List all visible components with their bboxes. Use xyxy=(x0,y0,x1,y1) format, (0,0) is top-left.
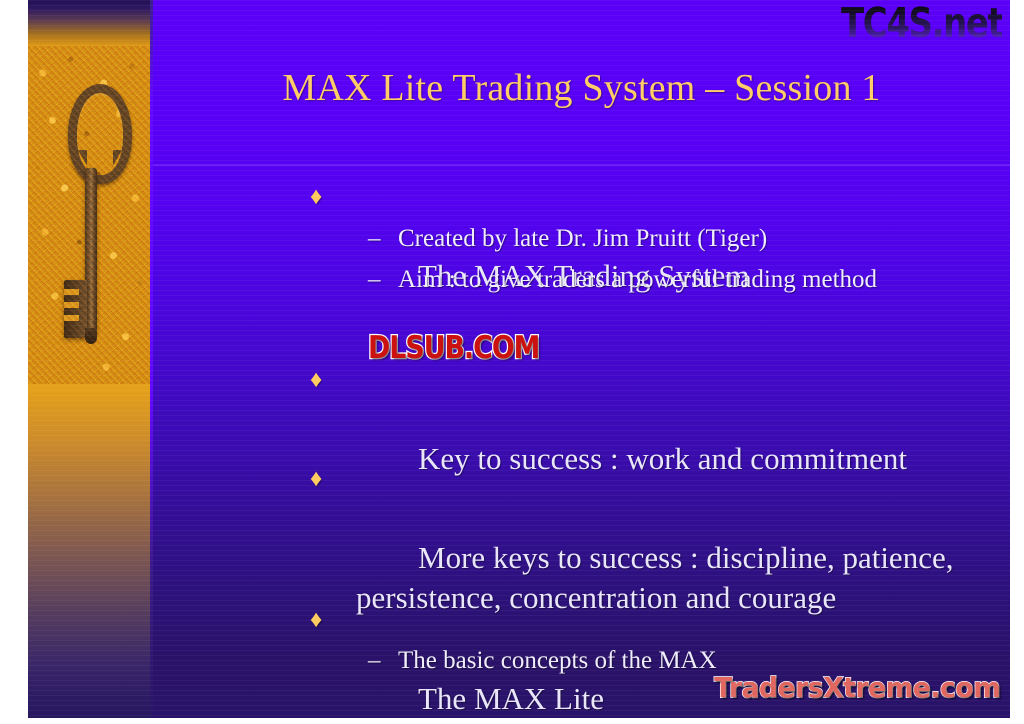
bullet-diamond-icon: ♦ xyxy=(310,459,322,499)
presentation-slide: MAX Lite Trading System – Session 1 ♦ Th… xyxy=(0,0,1024,724)
bullet-level1-text: The MAX Lite xyxy=(418,681,604,716)
bullet-level2: – The basic concepts of the MAX xyxy=(398,644,717,678)
key-notch xyxy=(64,289,79,295)
key-tip-shape xyxy=(85,328,97,344)
key-ward-shape xyxy=(64,280,87,338)
key-bow-taper-shape xyxy=(78,150,122,176)
bullet-diamond-icon: ♦ xyxy=(310,360,322,400)
skeleton-key-icon xyxy=(62,84,120,346)
bullet-diamond-icon: ♦ xyxy=(310,177,322,217)
decorative-sidebar xyxy=(28,0,150,718)
bullet-dash-icon: – xyxy=(368,644,381,678)
bullet-level2-text: The basic concepts of the MAX xyxy=(398,647,717,674)
dlsub-watermark: DLSUB.COM xyxy=(368,330,539,366)
bullet-level1: ♦ The MAX Trading System xyxy=(356,176,750,336)
slide-body: ♦ The MAX Trading System – Created by la… xyxy=(153,166,1010,718)
tradersxtreme-logo[interactable]: TradersXtreme.com xyxy=(714,671,1000,704)
bullet-level2-text: Aim : to give traders a powerful trading… xyxy=(398,266,877,293)
slide-title: MAX Lite Trading System – Session 1 xyxy=(153,66,1010,110)
key-bow-shape xyxy=(68,84,132,184)
tc4s-logo[interactable]: TC4S.net xyxy=(841,0,1002,48)
bullet-dash-icon: – xyxy=(368,263,381,297)
bullet-level2-text: Created by late Dr. Jim Pruitt (Tiger) xyxy=(398,225,767,252)
bullet-dash-icon: – xyxy=(368,222,381,256)
bullet-level2: – Created by late Dr. Jim Pruitt (Tiger) xyxy=(398,222,767,256)
key-photo-panel xyxy=(28,46,150,384)
key-notch xyxy=(64,302,79,308)
key-notch xyxy=(64,315,79,321)
bullet-diamond-icon: ♦ xyxy=(310,600,322,640)
bullet-level2: – Aim : to give traders a powerful tradi… xyxy=(398,263,877,297)
key-shaft-shape xyxy=(85,168,97,336)
